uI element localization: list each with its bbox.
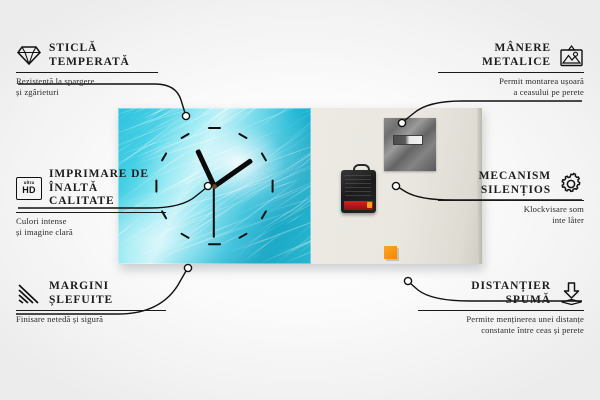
callout-title: MÂNEREMETALICE <box>482 42 551 69</box>
callout-subtitle: Permite menținerea unei distanțeconstant… <box>418 314 584 336</box>
callout-rule <box>438 200 584 201</box>
title-line-1: DISTANȚIER <box>471 280 551 292</box>
hanger-slot <box>393 135 423 145</box>
callout-title: STICLĂTEMPERATĂ <box>49 42 130 69</box>
callout-subtitle: Culori intenseși imagine clară <box>16 216 166 238</box>
callout-sticla-temperata: STICLĂTEMPERATĂ Rezistentă la spargereși… <box>16 42 158 98</box>
callout-rule <box>438 72 584 73</box>
callout-mecanism-silentios: MECANISMSILENȚIOS Klockvisare sominte lå… <box>438 170 584 226</box>
callout-title: MECANISMSILENȚIOS <box>479 170 551 197</box>
ultra-hd-main-text: HD <box>22 186 36 195</box>
callout-subtitle: Permit montarea ușoarăa ceasului pe pere… <box>438 76 584 98</box>
clock-tick <box>180 132 190 139</box>
subtitle-line-2: și zgârieturi <box>16 87 59 97</box>
metal-hanger-plate <box>384 118 436 171</box>
subtitle-line-1: Finisare netedă și sigură <box>16 314 103 324</box>
callout-subtitle: Rezistentă la spargereși zgârieturi <box>16 76 158 98</box>
subtitle-line-1: Culori intense <box>16 216 67 226</box>
clock-second-hand <box>213 186 215 238</box>
title-line-1: STICLĂ <box>49 42 97 54</box>
callout-distantier-spuma: DISTANȚIERSPUMĂ Permite menținerea unei … <box>418 280 584 336</box>
callout-subtitle: Klockvisare sominte låter <box>438 204 584 226</box>
title-line-1: MECANISM <box>479 170 551 182</box>
callout-header: STICLĂTEMPERATĂ <box>16 42 158 69</box>
ultra-hd-icon: ultra HD <box>16 177 42 200</box>
mechanism-hanging-loop <box>353 164 370 174</box>
subtitle-line-2: a ceasului pe perete <box>513 87 584 97</box>
clock-tick <box>261 152 268 162</box>
diamond-icon <box>16 44 42 67</box>
callout-header: DISTANȚIERSPUMĂ <box>418 280 584 307</box>
clock-tick <box>208 127 221 129</box>
subtitle-line-1: Permite menținerea unei distanțe <box>466 314 584 324</box>
callout-title: MARGINIȘLEFUITE <box>49 280 113 307</box>
callout-title: DISTANȚIERSPUMĂ <box>471 280 551 307</box>
subtitle-line-1: Klockvisare som <box>524 204 584 214</box>
clock-hour-hand <box>213 158 253 188</box>
clock-tick <box>238 132 248 139</box>
down-arrow-stack-icon <box>558 282 584 305</box>
callout-header: MÂNEREMETALICE <box>438 42 584 69</box>
callout-title: IMPRIMARE DEÎNALTĂ CALITATE <box>49 168 166 209</box>
clock-center-pin <box>212 184 217 189</box>
callout-header: MECANISMSILENȚIOS <box>438 170 584 197</box>
subtitle-line-2: inte låter <box>552 215 584 225</box>
product-image <box>118 108 482 266</box>
mechanism-texture <box>345 175 371 197</box>
callout-header: ultra HD IMPRIMARE DEÎNALTĂ CALITATE <box>16 168 166 209</box>
callout-rule <box>16 72 158 73</box>
clock-tick <box>271 179 273 192</box>
callout-rule <box>16 310 166 311</box>
title-line-1: MARGINI <box>49 280 109 292</box>
clock-tick <box>261 210 268 220</box>
subtitle-line-1: Rezistentă la spargere <box>16 76 95 86</box>
ultra-hd-box: ultra HD <box>16 177 42 200</box>
polished-edges-icon <box>16 282 42 305</box>
clock-tick <box>208 243 221 245</box>
subtitle-line-1: Permit montarea ușoară <box>499 76 584 86</box>
battery <box>344 201 373 210</box>
title-line-2: METALICE <box>482 56 551 68</box>
connector-dot-distantier <box>404 277 411 284</box>
gear-icon <box>558 172 584 195</box>
callout-imprimare-inalta-calitate: ultra HD IMPRIMARE DEÎNALTĂ CALITATE Cul… <box>16 168 166 238</box>
title-line-1: MÂNERE <box>494 42 551 54</box>
title-line-2: ȘLEFUITE <box>49 294 113 306</box>
clock-minute-hand <box>195 149 216 187</box>
subtitle-line-2: constante între ceas și perete <box>481 325 584 335</box>
foam-spacer <box>384 246 397 259</box>
title-line-2: SPUMĂ <box>506 294 551 306</box>
subtitle-line-2: și imagine clară <box>16 227 73 237</box>
title-line-2: SILENȚIOS <box>481 184 551 196</box>
title-line-2: ÎNALTĂ CALITATE <box>49 182 115 208</box>
callout-rule <box>418 310 584 311</box>
clock-tick <box>238 233 248 240</box>
callout-rule <box>16 212 166 213</box>
callout-manere-metalice: MÂNEREMETALICE Permit montarea ușoarăa c… <box>438 42 584 98</box>
clock-tick <box>180 233 190 240</box>
clock-mechanism <box>341 170 376 213</box>
clock-tick <box>160 152 167 162</box>
callout-subtitle: Finisare netedă și sigură <box>16 314 166 325</box>
callout-header: MARGINIȘLEFUITE <box>16 280 166 307</box>
title-line-1: IMPRIMARE DE <box>49 168 149 180</box>
picture-hanger-icon <box>558 44 584 67</box>
infographic-canvas: STICLĂTEMPERATĂ Rezistentă la spargereși… <box>0 0 600 400</box>
callout-margini-slefuite: MARGINIȘLEFUITE Finisare netedă și sigur… <box>16 280 166 325</box>
title-line-2: TEMPERATĂ <box>49 56 130 68</box>
